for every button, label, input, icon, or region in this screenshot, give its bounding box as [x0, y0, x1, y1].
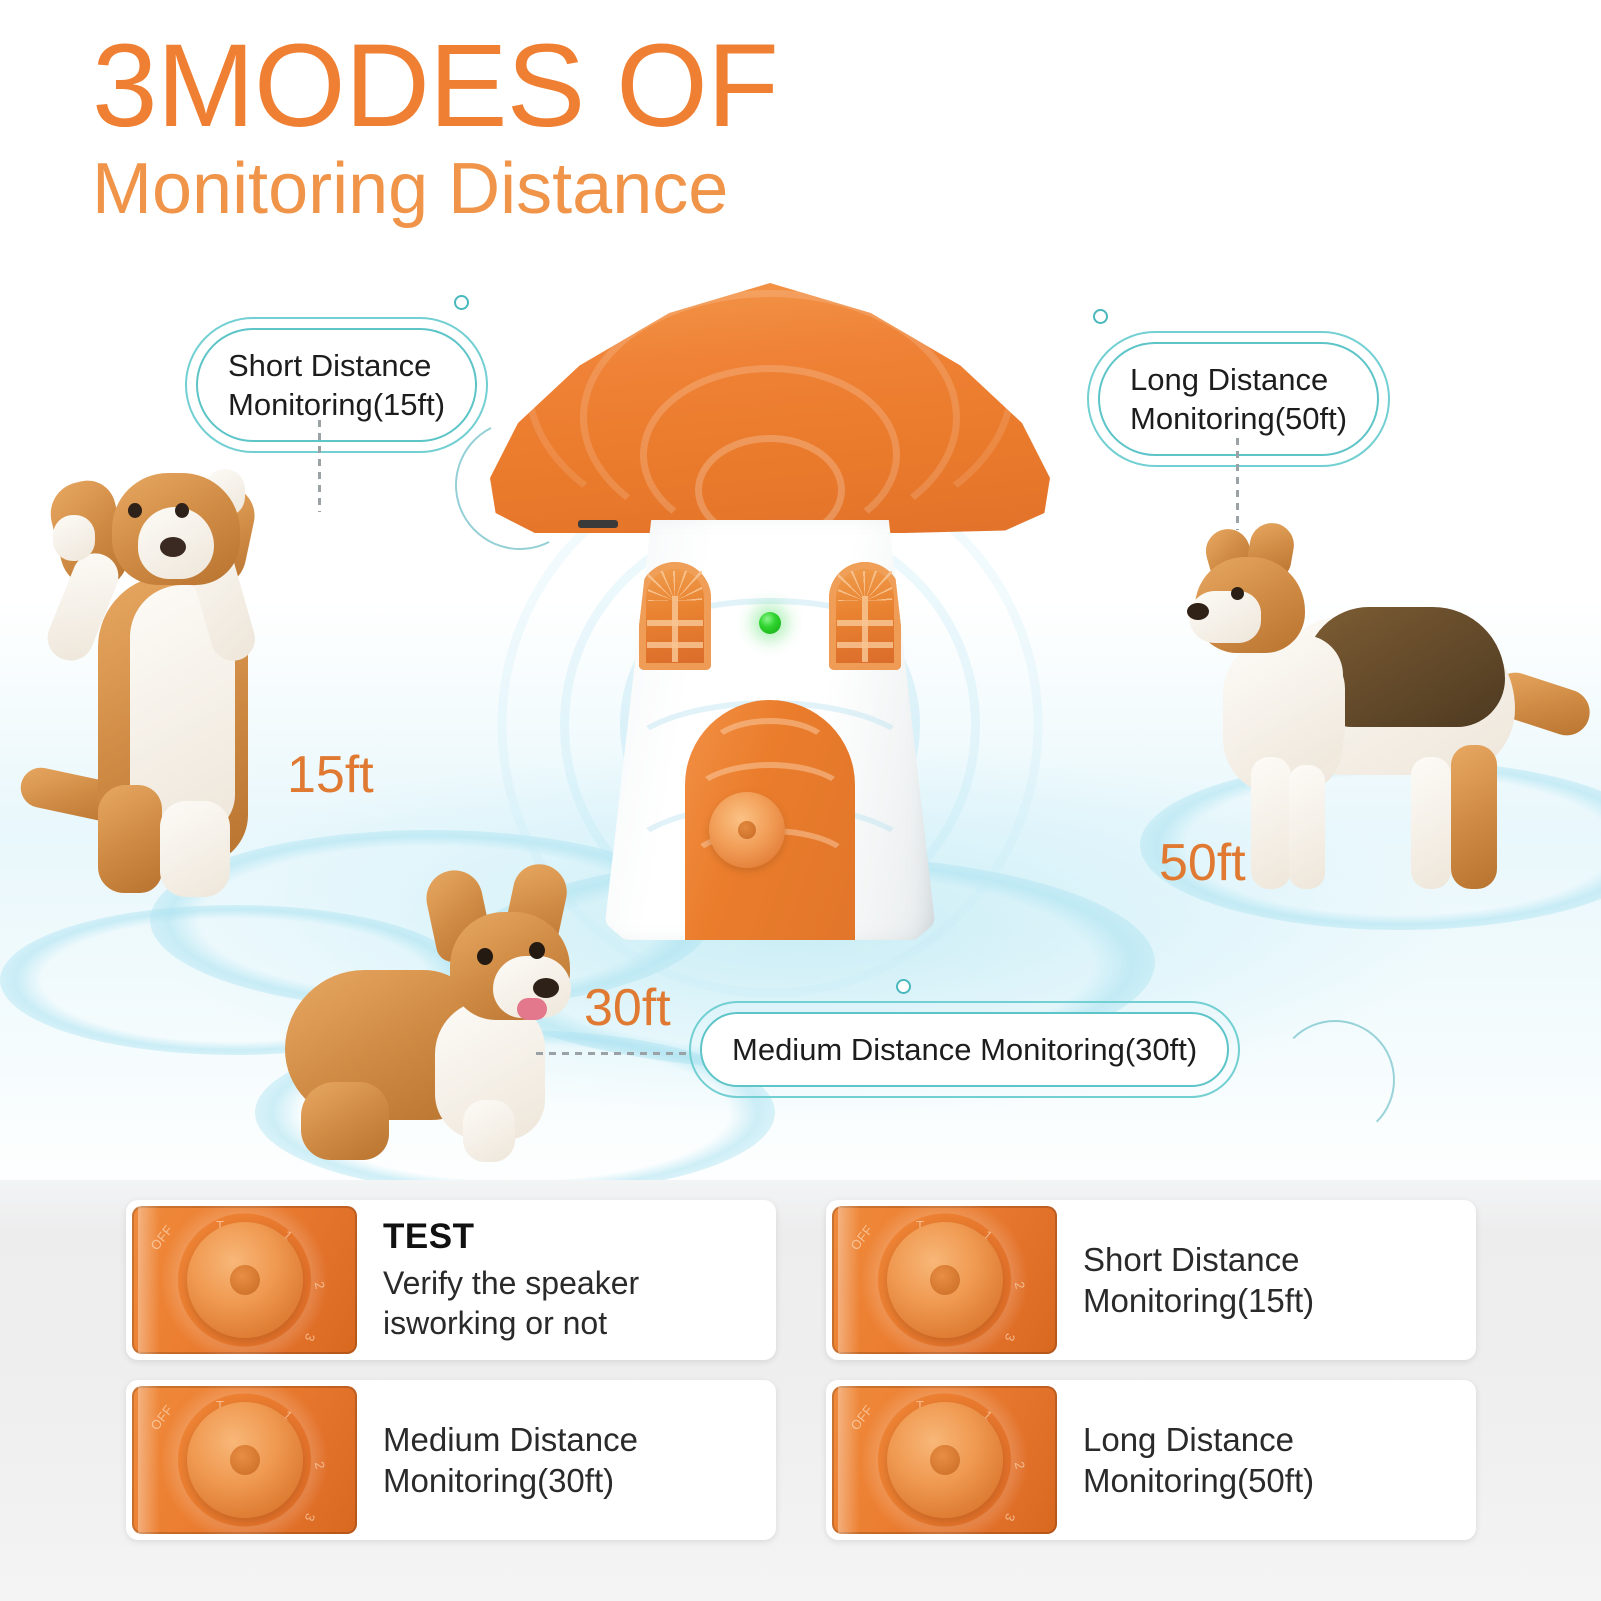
dog-corgi — [265, 870, 595, 1170]
dog-hindleg — [1411, 757, 1451, 889]
dog-eye — [128, 503, 142, 518]
mode-card-description: Short Distance Monitoring(15ft) — [1083, 1239, 1450, 1322]
dog-nose — [160, 537, 186, 557]
window-left — [639, 562, 711, 670]
mode-card-text: Medium Distance Monitoring(30ft) — [357, 1380, 776, 1540]
mode-card-medium[interactable]: OFF T 1 2 3 Medium Distance Monitoring(3… — [126, 1380, 776, 1540]
title-main-text: 3MODES OF — [92, 26, 778, 146]
dog-tongue — [517, 998, 547, 1020]
dog-hindleg — [160, 801, 230, 897]
dog-foreleg — [1289, 765, 1325, 889]
callout-anchor-dot — [896, 979, 911, 994]
leader-line-long — [1236, 438, 1239, 530]
title-sub-text: Monitoring Distance — [92, 150, 778, 229]
dog-ruff — [1225, 645, 1345, 775]
leader-line-short — [318, 420, 321, 512]
dial-photo-medium: OFF T 1 2 3 — [132, 1386, 357, 1534]
mode-card-test[interactable]: OFF T 1 2 3 TEST Verify the speaker iswo… — [126, 1200, 776, 1360]
decorative-arc — [1275, 1020, 1395, 1140]
page-title: 3MODES OF Monitoring Distance — [92, 26, 778, 230]
dog-foreleg — [463, 1100, 515, 1162]
window-mullion — [837, 620, 893, 626]
window-mullion — [672, 596, 678, 662]
window-mullion — [862, 596, 868, 662]
mode-card-text: Short Distance Monitoring(15ft) — [1057, 1200, 1476, 1360]
mode-card-text: Long Distance Monitoring(50ft) — [1057, 1380, 1476, 1540]
infographic-stage: 3MODES OF Monitoring Distance — [0, 0, 1601, 1601]
callout-short-label: Short Distance Monitoring(15ft) — [196, 328, 477, 442]
mode-card-description: Medium Distance Monitoring(30ft) — [383, 1419, 750, 1502]
dial-knob-icon — [187, 1402, 303, 1518]
dog-nose — [533, 978, 559, 998]
window-mullion — [837, 642, 893, 648]
mushroom-cap — [490, 283, 1050, 533]
dial-photo-short: OFF T 1 2 3 — [832, 1206, 1057, 1354]
dial-photo-test: OFF T 1 2 3 — [132, 1206, 357, 1354]
callout-short-distance[interactable]: Short Distance Monitoring(15ft) — [196, 328, 477, 442]
dog-paw — [53, 515, 95, 561]
window-mullion — [647, 642, 703, 648]
mode-dial-knob[interactable] — [709, 792, 785, 868]
cap-shape — [490, 283, 1050, 533]
dog-eye — [529, 942, 545, 959]
dial-knob-icon — [187, 1222, 303, 1338]
distance-label-30ft: 30ft — [584, 978, 671, 1038]
leader-line-medium — [536, 1052, 692, 1055]
mode-card-short[interactable]: OFF T 1 2 3 Short Distance Monitoring(15… — [826, 1200, 1476, 1360]
callout-medium-label: Medium Distance Monitoring(30ft) — [700, 1012, 1229, 1087]
mode-card-long[interactable]: OFF T 1 2 3 Long Distance Monitoring(50f… — [826, 1380, 1476, 1540]
led-indicator-icon — [759, 612, 781, 634]
mode-card-description: Long Distance Monitoring(50ft) — [1083, 1419, 1450, 1502]
distance-label-50ft: 50ft — [1159, 833, 1246, 893]
callout-medium-distance[interactable]: Medium Distance Monitoring(30ft) — [700, 1012, 1229, 1087]
dog-hindleg — [98, 785, 162, 893]
dial-photo-long: OFF T 1 2 3 — [832, 1386, 1057, 1534]
dog-nose — [1187, 603, 1209, 620]
dog-hindleg — [301, 1082, 389, 1160]
dog-eye — [1231, 587, 1244, 600]
dog-hindleg — [1451, 745, 1497, 889]
distance-label-15ft: 15ft — [287, 745, 374, 805]
bark-control-device — [490, 283, 1050, 953]
device-door — [685, 700, 855, 948]
window-right — [829, 562, 901, 670]
mode-card-description: Verify the speaker isworking or not — [383, 1263, 750, 1343]
window-mullion — [647, 620, 703, 626]
dial-knob-icon — [887, 1402, 1003, 1518]
mode-card-text: TEST Verify the speaker isworking or not — [357, 1200, 776, 1360]
mode-card-title: TEST — [383, 1217, 750, 1257]
dog-eye — [477, 948, 493, 965]
dial-knob-icon — [887, 1222, 1003, 1338]
mode-card-grid: OFF T 1 2 3 TEST Verify the speaker iswo… — [126, 1200, 1476, 1540]
hanging-slot — [578, 520, 618, 528]
dog-beagle — [20, 455, 350, 905]
device-body — [605, 520, 935, 940]
dog-foreleg — [1251, 757, 1291, 889]
callout-anchor-dot — [454, 295, 469, 310]
callout-anchor-dot — [1093, 309, 1108, 324]
dog-eye — [175, 503, 189, 518]
